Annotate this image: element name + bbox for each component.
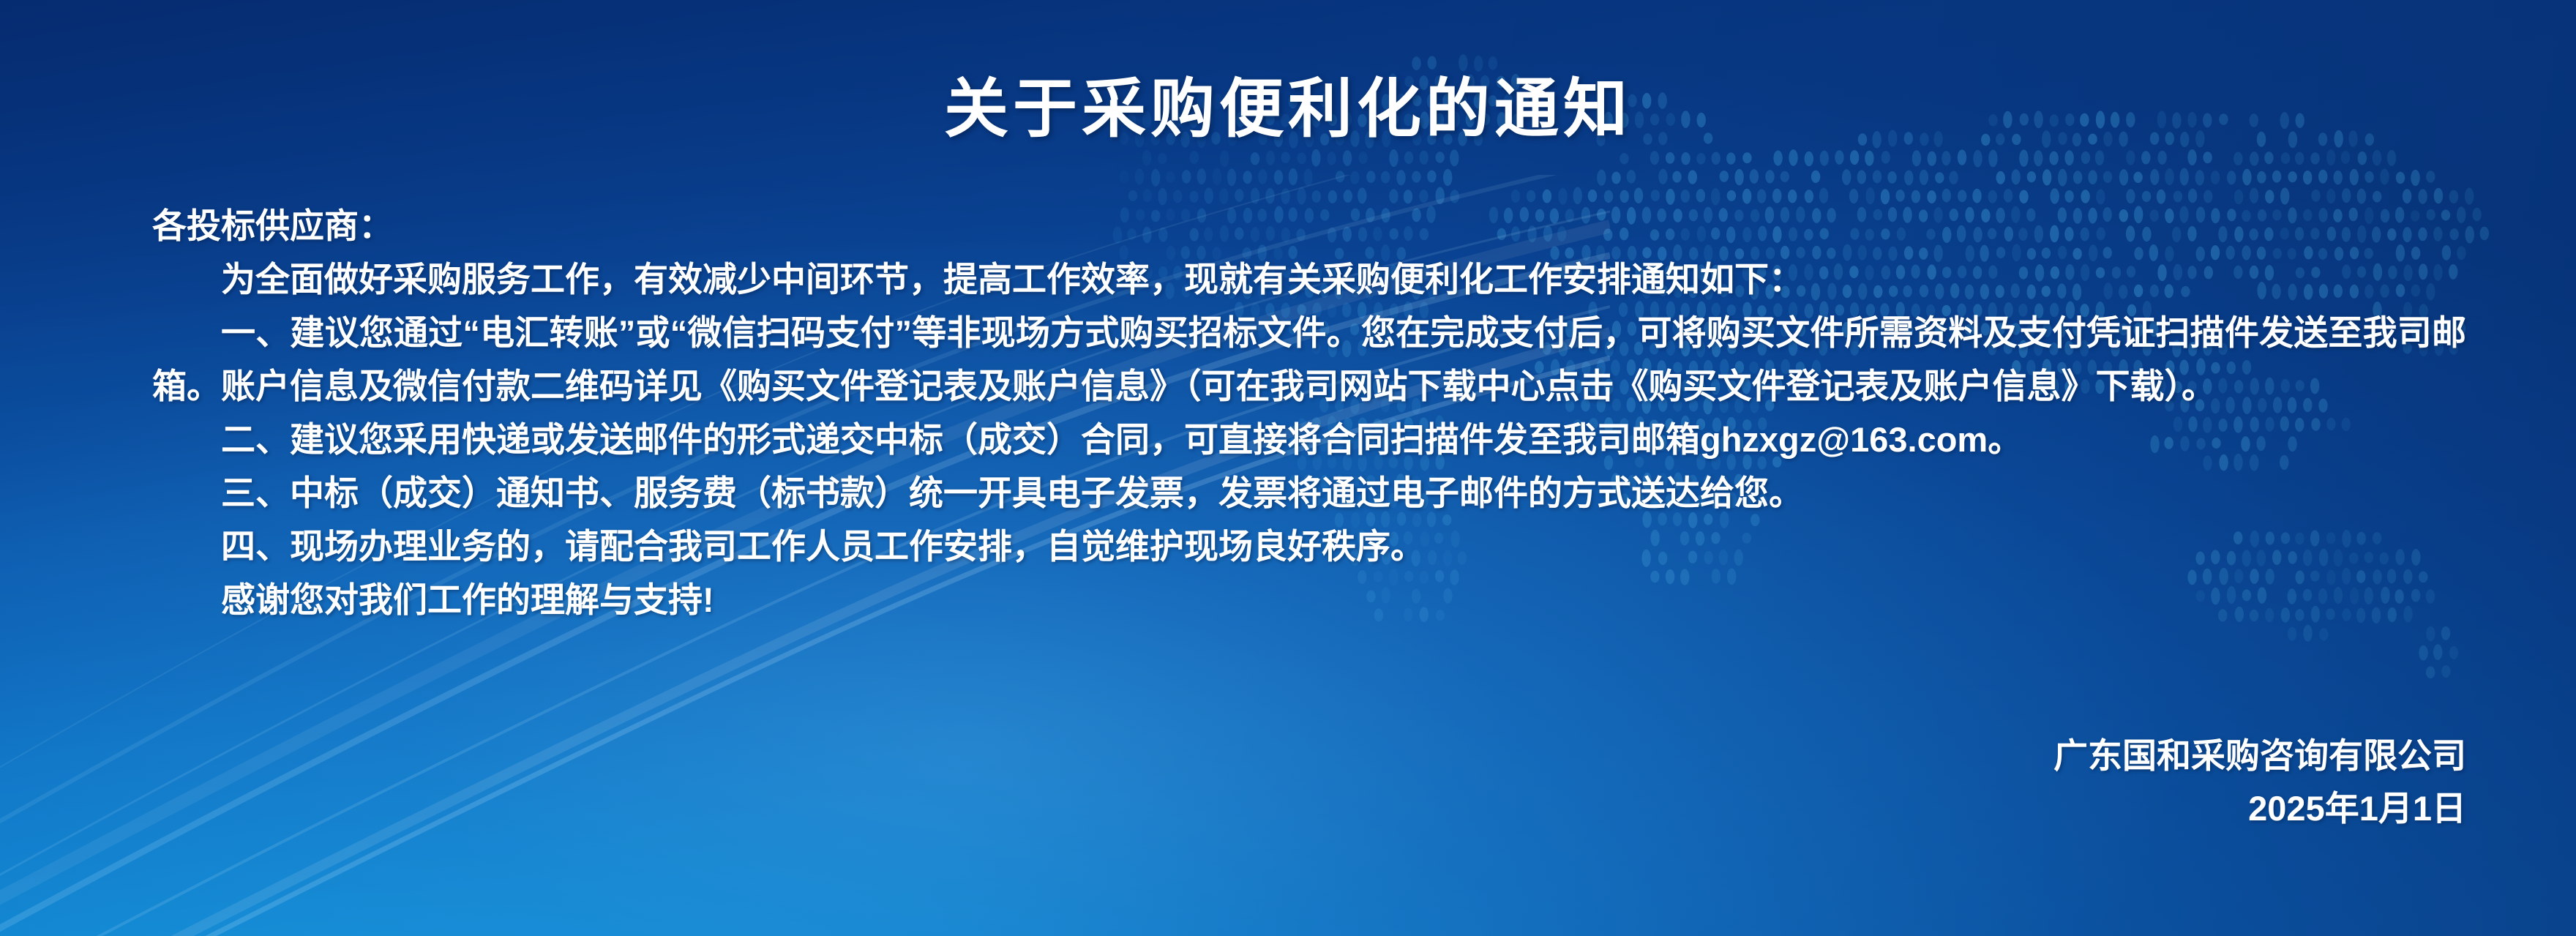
signature-company: 广东国和采购咨询有限公司 <box>2053 730 2466 782</box>
signature-date: 2025年1月1日 <box>2053 782 2466 835</box>
paragraph-intro: 为全面做好采购服务工作，有效减少中间环节，提高工作效率，现就有关采购便利化工作安… <box>152 252 2466 306</box>
paragraph-closing: 感谢您对我们工作的理解与支持! <box>152 573 2466 626</box>
paragraph-item-4: 四、现场办理业务的，请配合我司工作人员工作安排，自觉维护现场良好秩序。 <box>152 520 2466 573</box>
page-title: 关于采购便利化的通知 <box>0 57 2576 150</box>
notice-content: 关于采购便利化的通知 各投标供应商： 为全面做好采购服务工作，有效减少中间环节，… <box>0 0 2576 936</box>
paragraph-item-3: 三、中标（成交）通知书、服务费（标书款）统一开具电子发票，发票将通过电子邮件的方… <box>152 466 2466 520</box>
paragraph-item-1: 一、建议您通过“电汇转账”或“微信扫码支付”等非现场方式购买招标文件。您在完成支… <box>152 306 2466 413</box>
salutation: 各投标供应商： <box>152 199 2466 252</box>
paragraph-item-2: 二、建议您采用快递或发送邮件的形式递交中标（成交）合同，可直接将合同扫描件发至我… <box>152 413 2466 466</box>
signature-block: 广东国和采购咨询有限公司 2025年1月1日 <box>2053 730 2466 835</box>
notice-body: 各投标供应商： 为全面做好采购服务工作，有效减少中间环节，提高工作效率，现就有关… <box>152 199 2466 626</box>
notice-banner: 关于采购便利化的通知 各投标供应商： 为全面做好采购服务工作，有效减少中间环节，… <box>0 0 2576 936</box>
